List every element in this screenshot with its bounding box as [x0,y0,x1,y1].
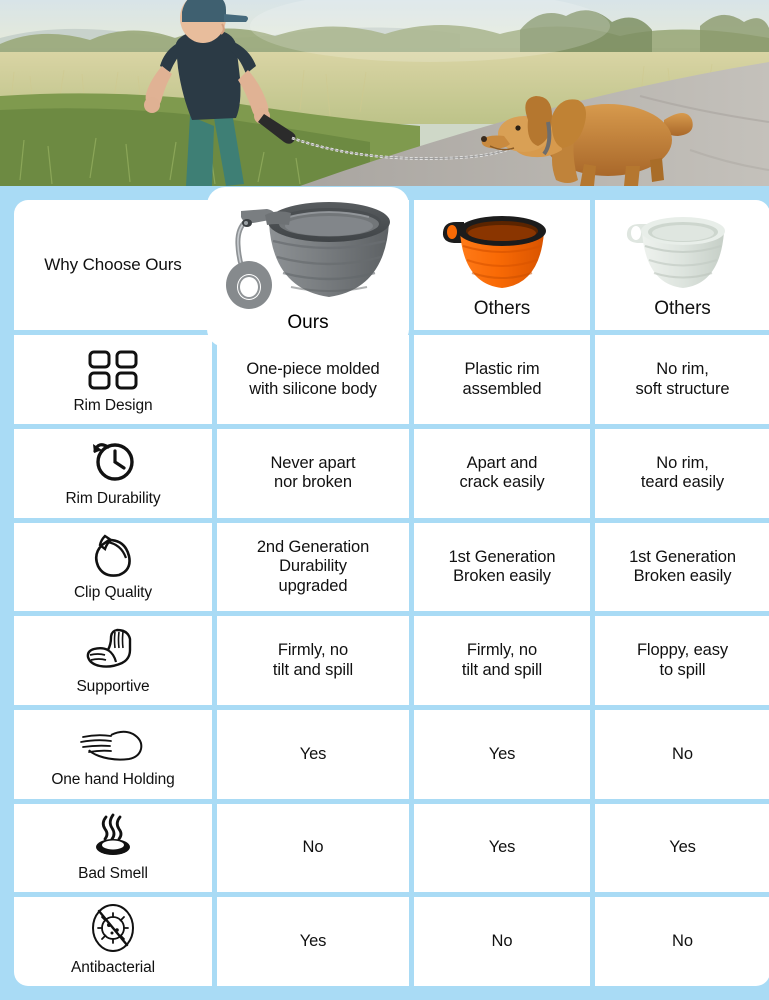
cell-rim-design-ours: One-piece molded with silicone body [217,335,409,424]
cell-rim-durability-other2: No rim, teard easily [595,429,769,518]
row-label-text: Bad Smell [78,865,148,883]
highlighted-column-ours: Ours [212,192,404,342]
cell-one-hand-holding-other2: No [595,710,769,799]
table-header-title: Why Choose Ours [14,200,212,330]
product-image-gray-bowl [212,192,404,312]
row-label-clip-quality: Clip Quality [14,523,212,612]
hero-photo [0,0,769,186]
four-squares-rim-icon [87,345,139,391]
header-column-others-1: Others [414,200,590,330]
clock-history-icon [88,438,138,484]
comparison-table: Why Choose Ours [14,200,755,986]
cell-rim-durability-other1: Apart and crack easily [414,429,590,518]
cell-bad-smell-ours: No [217,804,409,893]
row-label-text: Rim Design [73,397,152,415]
product-image-orange-bowl [418,202,586,298]
page-title: Why Choose Ours [44,255,181,275]
product-caption: Others [654,298,710,322]
product-caption: Others [474,298,530,322]
cell-one-hand-holding-other1: Yes [414,710,590,799]
row-label-supportive: Supportive [14,616,212,705]
cell-antibacterial-ours: Yes [217,897,409,986]
gray-collapsible-bowl-with-carabiner-icon [219,193,397,311]
hero-illustration [0,0,769,186]
antibacterial-germ-blocked-icon [88,907,138,953]
cell-rim-design-other2: No rim, soft structure [595,335,769,424]
cell-antibacterial-other2: No [595,897,769,986]
cell-rim-design-other1: Plastic rim assembled [414,335,590,424]
cell-one-hand-holding-ours: Yes [217,710,409,799]
cell-supportive-other1: Firmly, no tilt and spill [414,616,590,705]
infographic-page: Why Choose Ours [0,0,769,1000]
cell-clip-quality-other2: 1st Generation Broken easily [595,523,769,612]
row-label-text: Antibacterial [71,959,155,977]
row-label-text: Clip Quality [74,584,152,602]
row-label-rim-design: Rim Design [14,335,212,424]
cell-supportive-ours: Firmly, no tilt and spill [217,616,409,705]
steam-smell-icon [90,813,136,859]
row-label-rim-durability: Rim Durability [14,429,212,518]
carabiner-clip-icon [91,532,135,578]
header-column-others-2: Others [595,200,769,330]
cell-clip-quality-ours: 2nd Generation Durability upgraded [217,523,409,612]
row-label-text: One hand Holding [51,771,174,789]
cell-clip-quality-other1: 1st Generation Broken easily [414,523,590,612]
row-label-antibacterial: Antibacterial [14,897,212,986]
cell-bad-smell-other1: Yes [414,804,590,893]
product-image-white-bowl [599,202,766,298]
row-label-bad-smell: Bad Smell [14,804,212,893]
flexed-biceps-icon [84,626,142,672]
product-caption: Ours [287,312,328,334]
open-hand-icon [77,719,149,765]
cell-bad-smell-other2: Yes [595,804,769,893]
cell-rim-durability-ours: Never apart nor broken [217,429,409,518]
row-label-one-hand-holding: One hand Holding [14,710,212,799]
row-label-text: Rim Durability [65,490,160,508]
cell-supportive-other2: Floppy, easy to spill [595,616,769,705]
row-label-text: Supportive [76,678,149,696]
cell-antibacterial-other1: No [414,897,590,986]
white-collapsible-bowl-icon [616,202,750,298]
orange-collapsible-bowl-icon [434,202,570,298]
